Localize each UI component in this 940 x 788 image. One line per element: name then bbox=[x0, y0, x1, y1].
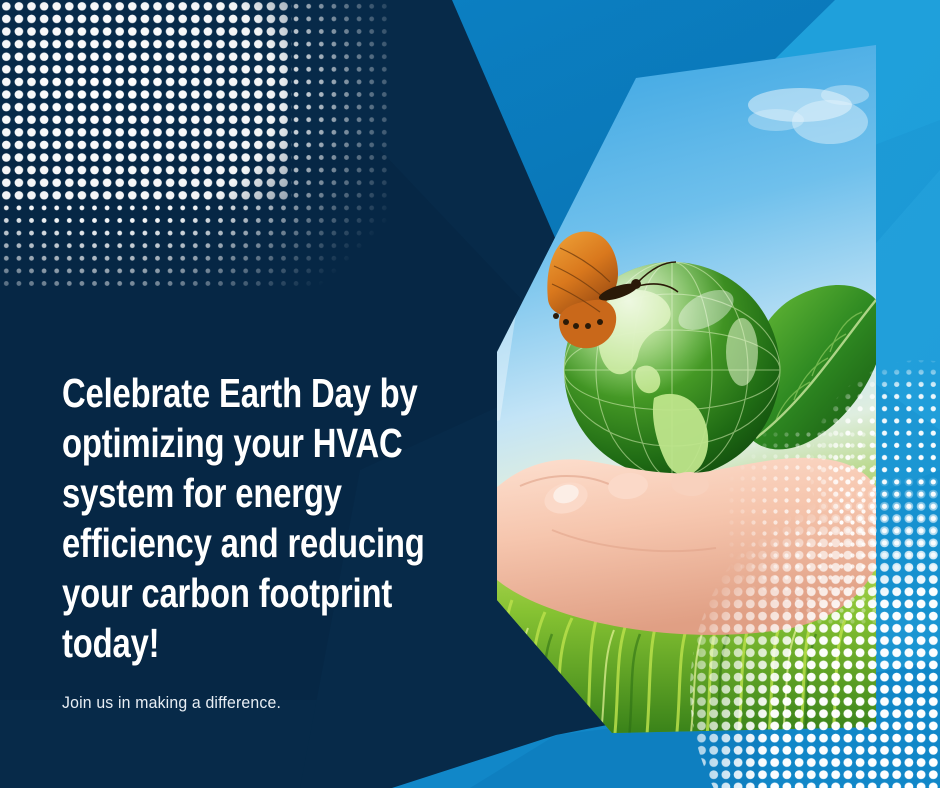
headline-line-3: system for energy bbox=[62, 468, 382, 518]
page-title: Celebrate Earth Day by optimizing your H… bbox=[62, 368, 382, 668]
headline-line-4: efficiency and reducing bbox=[62, 518, 382, 568]
headline-line-1: Celebrate Earth Day by bbox=[62, 368, 382, 418]
headline-block: Celebrate Earth Day by optimizing your H… bbox=[62, 368, 462, 668]
subheadline: Join us in making a difference. bbox=[62, 693, 281, 713]
earth-day-poster: Celebrate Earth Day by optimizing your H… bbox=[0, 0, 940, 788]
headline-line-6: today! bbox=[62, 618, 382, 668]
headline-line-5: your carbon footprint bbox=[62, 568, 382, 618]
headline-line-2: optimizing your HVAC bbox=[62, 418, 382, 468]
halftone-cluster-lower bbox=[680, 470, 940, 788]
